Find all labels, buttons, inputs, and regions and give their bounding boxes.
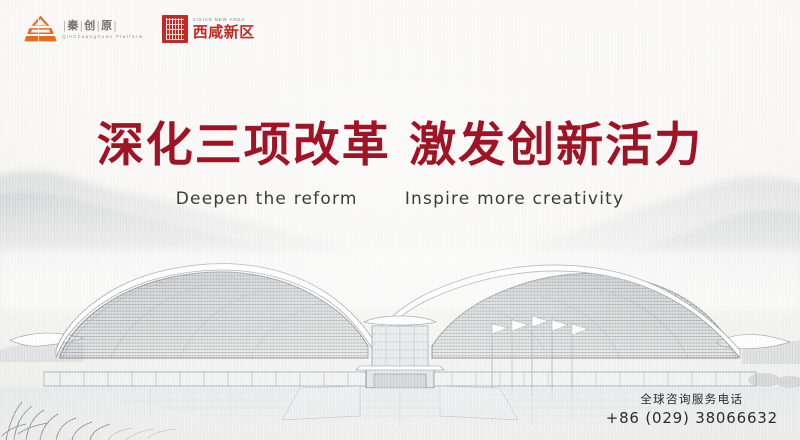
paper-texture-overlay xyxy=(0,0,800,440)
paper-grain-overlay xyxy=(0,0,800,440)
xixian-logo[interactable]: XIXIAN NEW AREA 西咸新区 xyxy=(162,15,255,43)
contact-phone[interactable]: +86 (029) 38066632 xyxy=(606,408,778,428)
xixian-cn-name: 西咸新区 xyxy=(193,23,255,42)
vignette-overlay xyxy=(0,0,800,440)
qinchuangyuan-pyramid-mark xyxy=(24,14,57,44)
sub-headline: Deepen the reform Inspire more creativit… xyxy=(0,188,800,210)
xixian-en-name: XIXIAN NEW AREA xyxy=(193,16,255,23)
ink-wash-mountains xyxy=(0,0,800,440)
qinchuangyuan-cn-name: |秦|创|原| xyxy=(62,19,144,33)
poster-canvas: |秦|创|原| QinChuangYuan Platform XIXIAN NE… xyxy=(0,0,800,440)
headline-block: 深化三项改革 激发创新活力 Deepen the reform Inspire … xyxy=(0,118,800,210)
sub-headline-left: Deepen the reform xyxy=(176,189,358,209)
main-headline: 深化三项改革 激发创新活力 xyxy=(0,118,800,174)
contact-label: 全球咨询服务电话 xyxy=(606,392,778,408)
qinchuangyuan-logo[interactable]: |秦|创|原| QinChuangYuan Platform xyxy=(24,14,144,44)
qinchuangyuan-en-name: QinChuangYuan Platform xyxy=(62,33,144,40)
xixian-seal-stamp-icon xyxy=(162,15,188,43)
sub-headline-right: Inspire more creativity xyxy=(405,189,624,209)
brand-logo-bar: |秦|创|原| QinChuangYuan Platform XIXIAN NE… xyxy=(24,14,255,44)
contact-block: 全球咨询服务电话 +86 (029) 38066632 xyxy=(606,392,778,428)
